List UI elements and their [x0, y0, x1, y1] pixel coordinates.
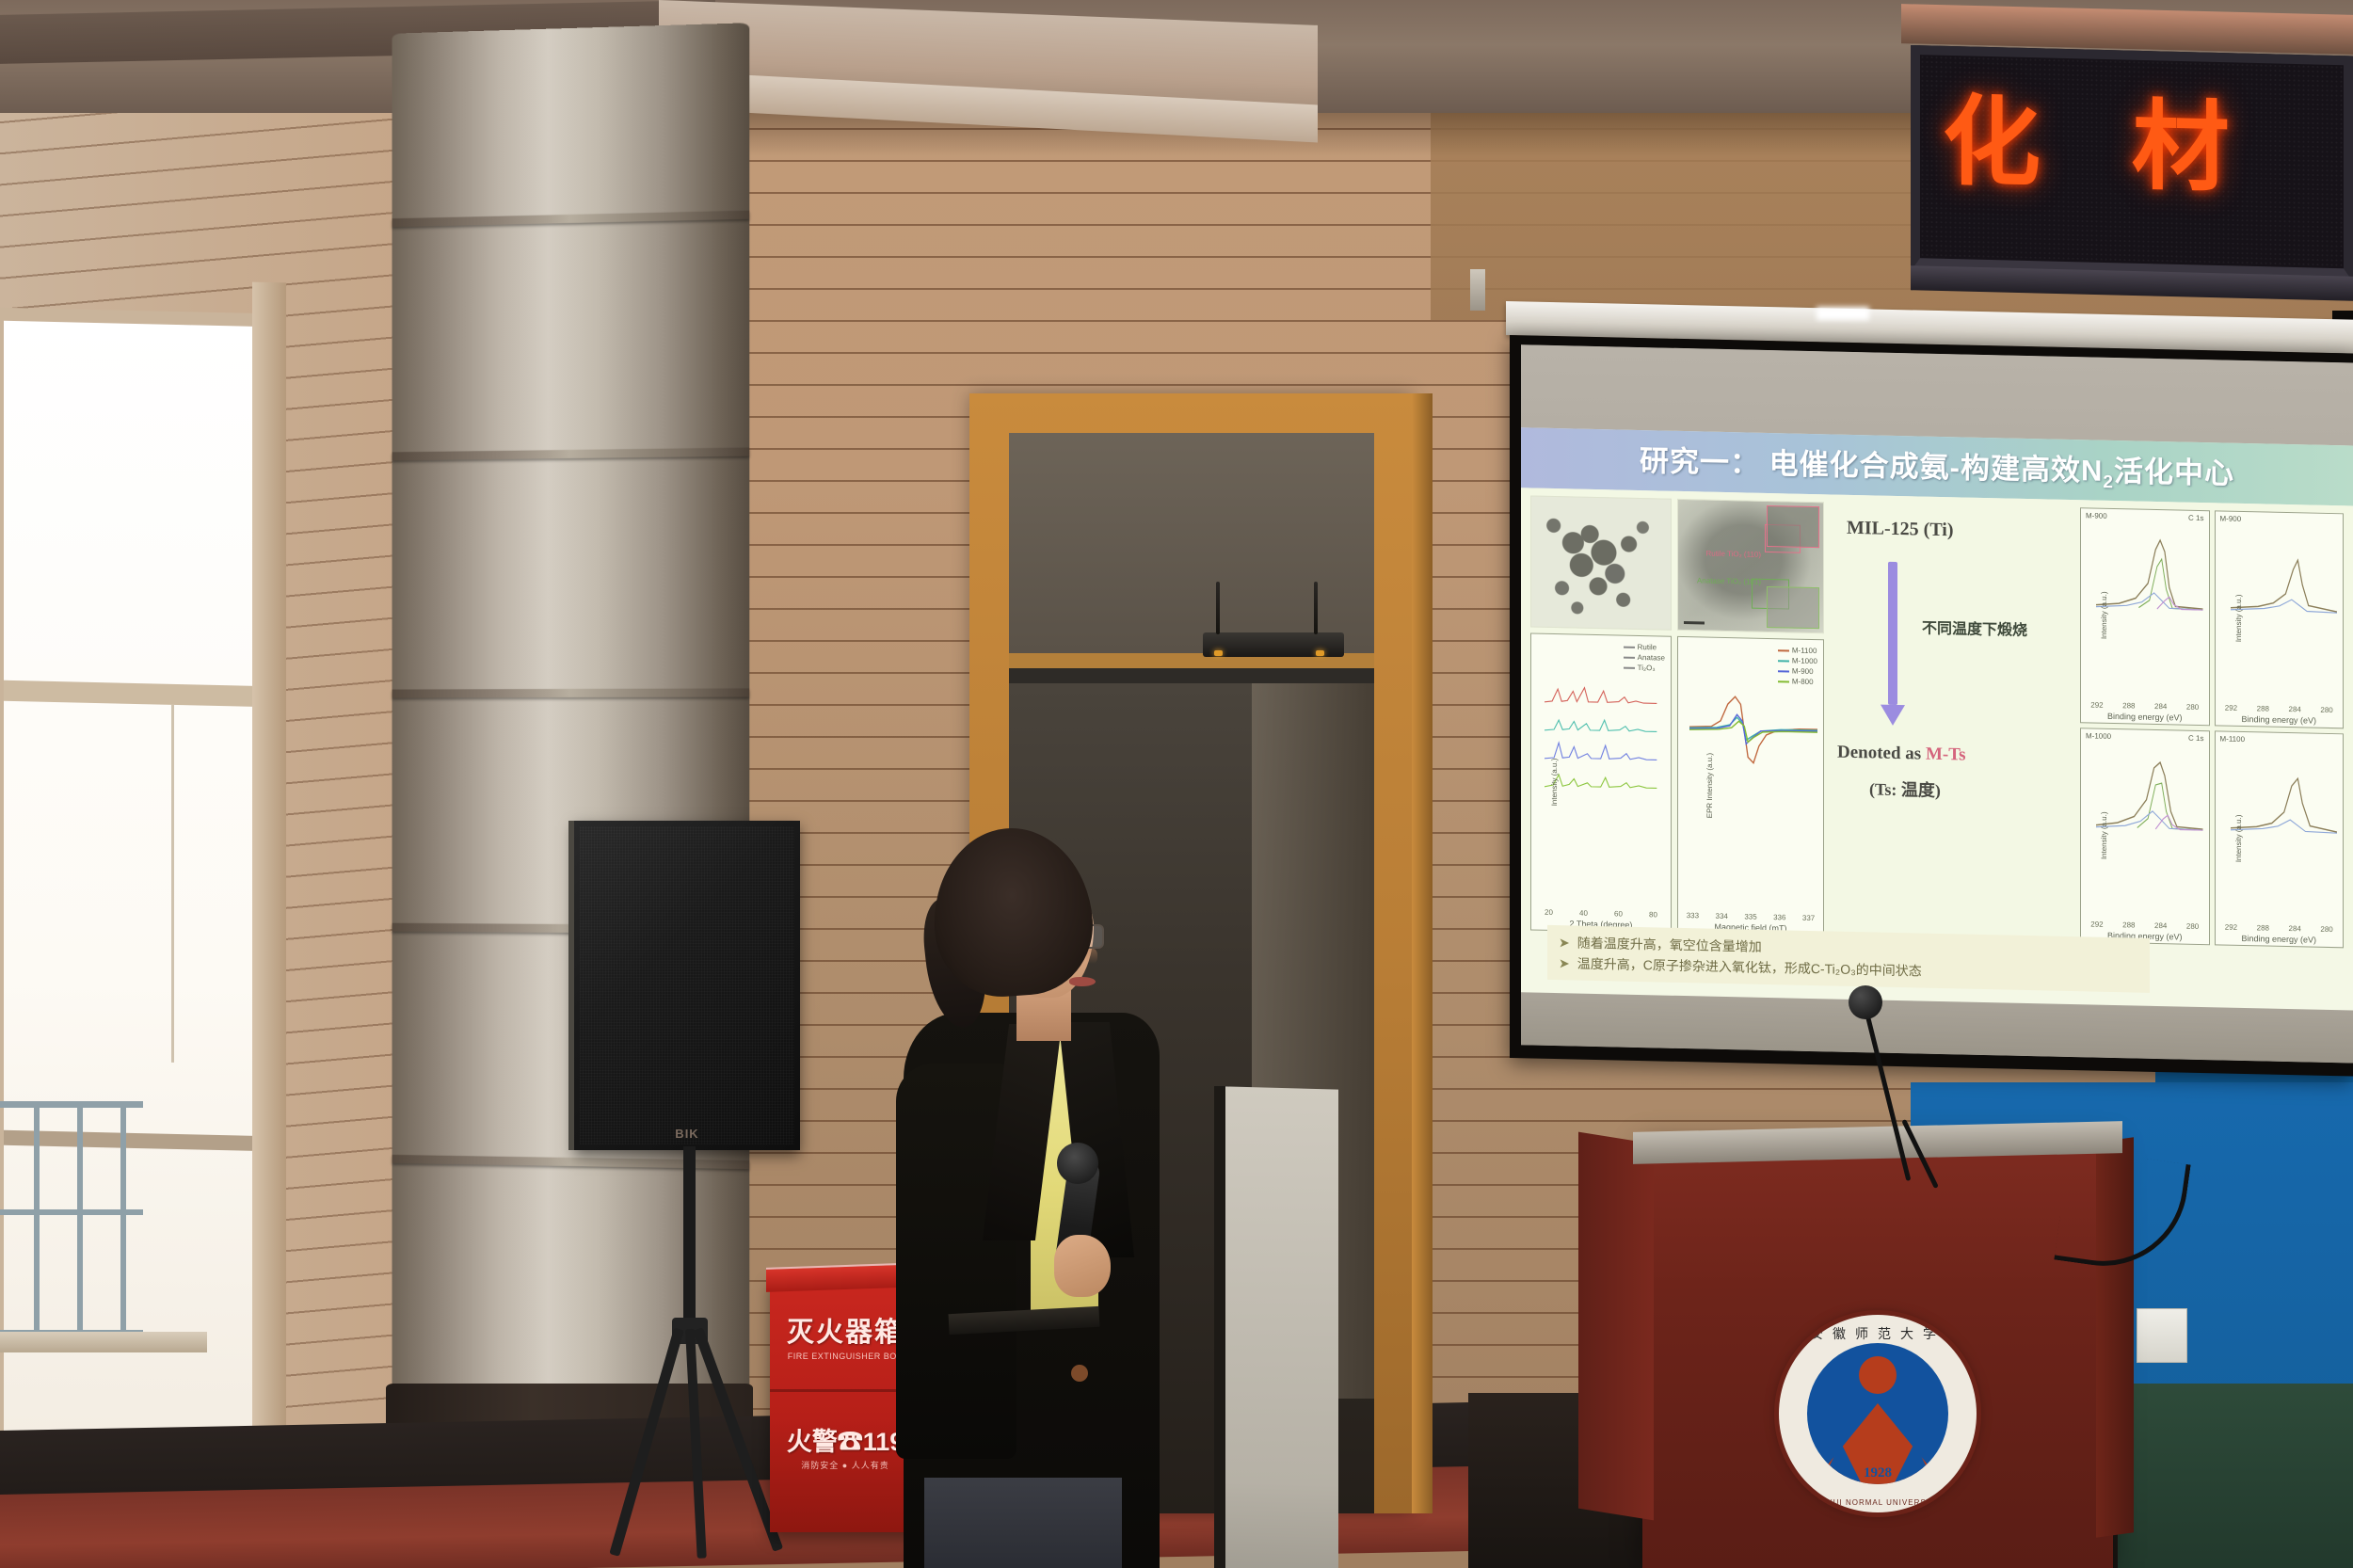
column-band: [392, 688, 750, 697]
structural-column: [392, 23, 750, 1502]
process-label: 不同温度下煅烧: [1922, 616, 2027, 640]
xps-sample-3: M-1100: [2220, 734, 2246, 744]
emblem-founding-year: 1928: [1807, 1465, 1948, 1481]
scale-bar: [1684, 621, 1705, 624]
xps-xticks-0: 292 288 284 280: [2081, 700, 2209, 712]
xrd-xtick-0: 20: [1545, 908, 1553, 917]
xps-traces-1: [2231, 536, 2338, 617]
xps-region-2: C 1s: [2188, 733, 2203, 742]
xps-plot-3: M-1100 292 288 284 280 Bindi: [2215, 730, 2345, 949]
xps-xtick-2-3: 280: [2186, 922, 2199, 931]
xps-ylabel-0: Intensity (a.u.): [2100, 592, 2108, 640]
xps-xticks-3: 292 288 284 280: [2216, 922, 2344, 934]
presentation-slide: 研究一： 电催化合成氨-构建高效N2活化中心: [1521, 427, 2353, 1029]
xrd-xticks: 20 40 60 80: [1531, 908, 1671, 920]
speaker-grille: [580, 826, 794, 1144]
xrd-legend: Rutile Anatase Ti₂O₃: [1624, 642, 1665, 674]
xps-ylabel-2: Intensity (a.u.): [2100, 811, 2108, 859]
projection-screen: 研究一： 电催化合成氨-构建高效N2活化中心: [1510, 335, 2353, 1077]
slide-title-subscript: 2: [2103, 472, 2114, 492]
xps-plot-grid: M-900 C 1s 292 288 284: [2080, 507, 2344, 948]
epr-xtick-2: 335: [1744, 912, 1756, 920]
xps-region-0: C 1s: [2188, 514, 2203, 522]
door-right-jamb: [1412, 393, 1433, 1513]
xrd-trace-m1100: [1545, 683, 1658, 709]
presenter: [885, 828, 1167, 1568]
xps-xtick-1-3: 280: [2320, 705, 2332, 713]
slide-body: Rutile TiO₂ (110) Anatase TiO₂ (101) Rut…: [1521, 488, 2353, 948]
xrd-trace-m1000: [1545, 712, 1658, 737]
xps-xtick-3-1: 288: [2257, 923, 2269, 932]
xps-sample-1: M-900: [2220, 514, 2242, 522]
slide-title: 研究一： 电催化合成氨-构建高效N2活化中心: [1640, 437, 2234, 496]
led-sign-text: 化 材: [1943, 93, 2353, 201]
telephone-icon: ☎: [838, 1428, 863, 1456]
xrd-legend-2: Ti₂O₃: [1638, 663, 1656, 673]
xps-ylabel-3: Intensity (a.u.): [2233, 814, 2242, 862]
xrd-xtick-1: 40: [1579, 909, 1588, 918]
xrd-xtick-2: 60: [1614, 909, 1623, 918]
xps-sample-0: M-900: [2086, 511, 2107, 520]
wireless-receiver: [1203, 632, 1344, 657]
emblem-name-cn: 安徽师范大学: [1779, 1324, 1977, 1343]
antenna-icon: [1216, 582, 1220, 634]
slide-left-column: Rutile TiO₂ (110) Anatase TiO₂ (101) Rut…: [1530, 495, 1824, 936]
xps-xtick-0-1: 288: [2122, 701, 2135, 710]
epr-xticks: 333 334 335 336 337: [1678, 911, 1823, 922]
pa-speaker: BIK: [574, 821, 800, 1150]
status-led: [1214, 650, 1223, 656]
xps-xtick-2-1: 288: [2122, 920, 2135, 929]
fft-inset-green: [1767, 586, 1819, 629]
precursor-label: MIL-125 (Ti): [1847, 518, 1954, 541]
xps-xlabel-1: Binding energy (eV): [2216, 713, 2344, 726]
epr-xtick-3: 336: [1773, 913, 1785, 921]
xps-ylabel-1: Intensity (a.u.): [2233, 595, 2242, 643]
presenter-neck: [1016, 990, 1071, 1041]
wall-outlet[interactable]: [2137, 1308, 2187, 1363]
blind-cord[interactable]: [171, 705, 174, 1063]
xps-traces-0: [2096, 534, 2203, 615]
xps-plot-0: M-900 C 1s 292 288 284: [2080, 507, 2210, 726]
xps-xtick-1-0: 292: [2225, 703, 2237, 712]
tem-label-anatase: Anatase TiO₂ (101): [1697, 576, 1761, 585]
product-note: (Ts: 温度): [1869, 776, 1941, 802]
stage-green-surface: [2118, 1384, 2353, 1568]
arrow-head: [1881, 705, 1905, 727]
column-band: [392, 448, 750, 461]
chevron-right-icon: ➤: [1559, 952, 1570, 973]
chevron-right-icon: ➤: [1559, 932, 1570, 952]
product-prefix: Denoted as: [1837, 743, 1926, 764]
product-label: Denoted as M-Ts: [1837, 743, 1966, 766]
xrd-ylabel: Intensity (a.u.): [1550, 759, 1559, 807]
window-guard-rail: [0, 1101, 143, 1336]
tripod-pole: [683, 1146, 696, 1335]
xps-xtick-1-1: 288: [2257, 704, 2269, 712]
xrd-legend-0: Rutile: [1638, 642, 1657, 652]
xrd-xtick-3: 80: [1649, 910, 1657, 919]
epr-plot: M-1100 M-1000 M-900 M-800: [1677, 636, 1824, 936]
sem-image: [1530, 495, 1672, 630]
xps-traces-2: [2096, 753, 2203, 834]
xps-plot-2: M-1000 C 1s 292 288 284: [2080, 728, 2210, 946]
epr-xtick-4: 337: [1802, 914, 1815, 922]
xps-xlabel-3: Binding energy (eV): [2216, 933, 2344, 945]
slide-title-tail: 活化中心: [2114, 455, 2234, 490]
column-band: [392, 211, 750, 228]
epr-legend-0: M-1100: [1792, 646, 1817, 657]
presenter-hair: [928, 823, 1097, 1000]
xps-xtick-3-0: 292: [2225, 923, 2237, 932]
screen-mount-bracket: [1470, 269, 1485, 311]
epr-xtick-0: 333: [1687, 911, 1699, 920]
xps-xticks-2: 292 288 284 280: [2081, 920, 2209, 931]
tem-label-rutile: Rutile TiO₂ (110): [1705, 550, 1761, 559]
xrd-trace-m900: [1545, 740, 1658, 765]
xps-xtick-0-3: 280: [2186, 702, 2199, 711]
lecture-hall-photo: 化 材 研究一： 电催化合成氨-构建高效N2活化中心: [0, 0, 2353, 1568]
presenter-trousers: [924, 1478, 1122, 1568]
window-sill: [0, 1332, 207, 1352]
lectern-left-side: [1578, 1132, 1654, 1521]
xps-xtick-2-2: 284: [2154, 921, 2167, 930]
microphone-icon: [1849, 985, 1882, 1019]
housing-highlight: [1817, 307, 1869, 320]
xps-xtick-2-0: 292: [2090, 920, 2103, 928]
xrd-trace-m800: [1545, 768, 1658, 793]
slide-flow-diagram: MIL-125 (Ti) 不同温度下煅烧 Denoted as M-Ts (Ts…: [1830, 502, 2074, 942]
xps-xtick-3-3: 280: [2320, 925, 2332, 934]
status-led: [1316, 650, 1324, 656]
xps-xticks-1: 292 288 284 280: [2216, 703, 2344, 714]
emblem-disc: 1928: [1807, 1343, 1948, 1484]
epr-legend-1: M-1000: [1792, 656, 1817, 667]
xps-xlabel-0: Binding energy (eV): [2081, 711, 2209, 723]
emblem-sun-icon: [1859, 1356, 1897, 1394]
window-jamb: [252, 282, 286, 1544]
down-arrow-icon: [1888, 562, 1897, 724]
led-marquee-sign: 化 材: [1911, 45, 2353, 281]
university-emblem: 安徽师范大学 ANHUI NORMAL UNIVERSITY 1928: [1779, 1315, 1977, 1512]
arrow-shaft: [1888, 562, 1897, 705]
xps-xtick-0-2: 284: [2154, 701, 2167, 710]
xps-traces-3: [2231, 756, 2338, 837]
leaning-board: [1225, 1086, 1338, 1568]
antenna-icon: [1314, 582, 1318, 634]
emblem-name-en: ANHUI NORMAL UNIVERSITY: [1779, 1498, 1977, 1507]
column-band: [392, 1155, 750, 1169]
xrd-legend-1: Anatase: [1638, 652, 1665, 664]
xps-xtick-0-0: 292: [2090, 700, 2103, 709]
xrd-plot: Rutile Anatase Ti₂O₃: [1530, 632, 1672, 933]
speaker-brand-logo: BIK: [675, 1127, 698, 1141]
fire-alarm-cn: 火警: [787, 1428, 838, 1456]
xps-xtick-3-2: 284: [2289, 924, 2301, 933]
lectern: 安徽师范大学 ANHUI NORMAL UNIVERSITY 1928: [1642, 1144, 2113, 1568]
xps-sample-2: M-1000: [2086, 731, 2111, 741]
slide-title-main: 研究一： 电催化合成氨-构建高效N: [1640, 444, 2103, 488]
fft-inset-red: [1767, 505, 1819, 548]
xps-xtick-1-2: 284: [2289, 705, 2301, 713]
presenter-hand: [1054, 1235, 1111, 1297]
hrtem-image: Rutile TiO₂ (110) Anatase TiO₂ (101): [1677, 499, 1824, 633]
pocket-detail: [1071, 1365, 1088, 1382]
xps-plot-1: M-900 292 288 284 280 Bindin: [2215, 510, 2345, 728]
presenter-lips: [1069, 977, 1096, 986]
screen-surface: 研究一： 电催化合成氨-构建高效N2活化中心: [1521, 344, 2353, 1063]
product-name: M-Ts: [1926, 744, 1966, 765]
epr-xtick-1: 334: [1716, 912, 1728, 920]
epr-ylabel: EPR Intensity (a.u.): [1705, 753, 1714, 819]
epr-legend-2: M-900: [1792, 666, 1814, 677]
